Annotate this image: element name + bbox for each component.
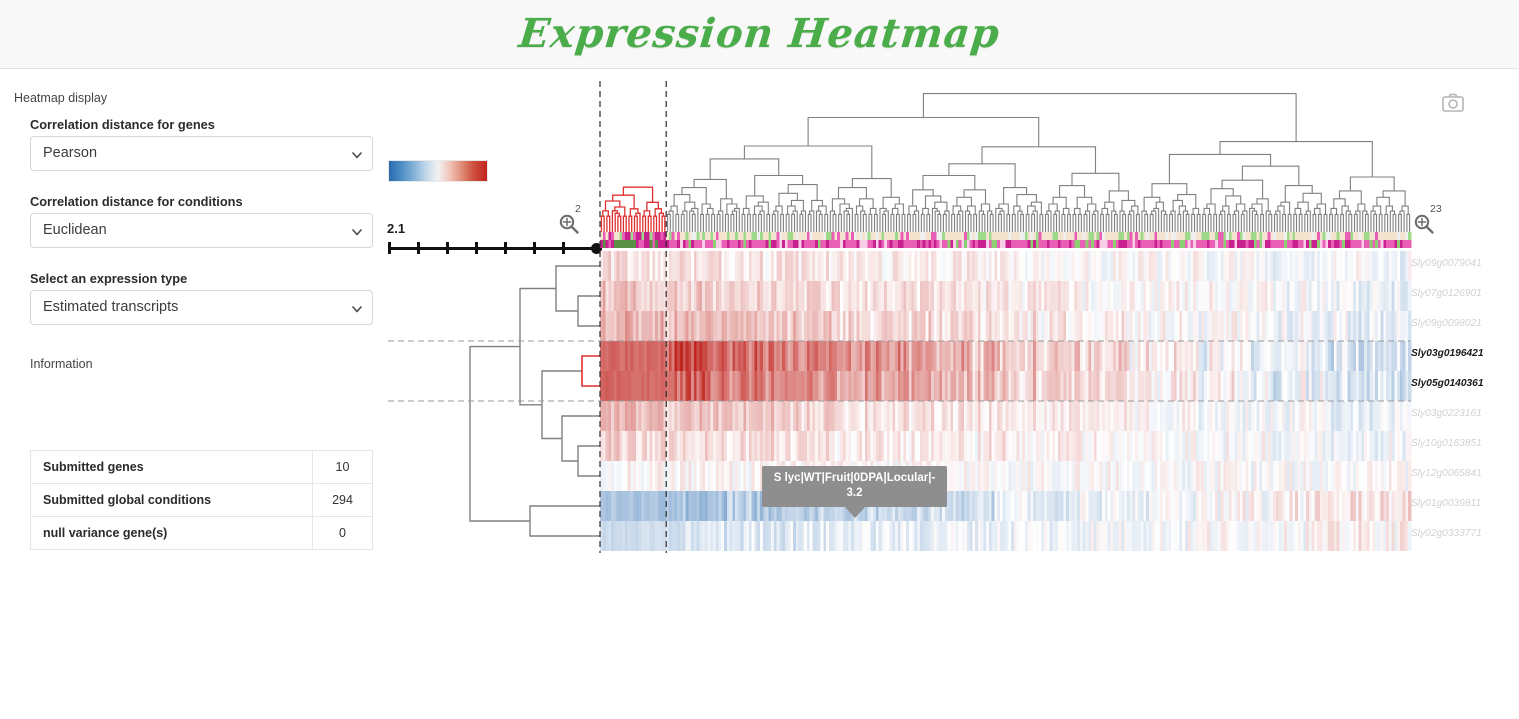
sidebar: Heatmap display Correlation distance for… — [0, 69, 388, 719]
label-correlation-distance-genes: Correlation distance for genes — [30, 117, 215, 132]
select-correlation-distance-conditions-value[interactable]: Euclidean — [30, 213, 373, 248]
table-row: Submitted global conditions 294 — [31, 484, 373, 517]
heatmap-plot-area[interactable]: 2.1 2 23 — [386, 69, 1519, 719]
label-expression-type: Select an expression type — [30, 271, 187, 286]
tooltip-line-1: S lyc|WT|Fruit|0DPA|Locular|- — [762, 471, 947, 486]
info-key: null variance gene(s) — [31, 517, 313, 550]
gene-label[interactable]: Sly03g0223161 — [1411, 408, 1482, 419]
gene-label[interactable]: Sly07g0126901 — [1411, 288, 1482, 299]
row-dendrogram-selected — [582, 356, 600, 386]
gene-label[interactable]: Sly01g0039811 — [1411, 498, 1481, 509]
gene-label[interactable]: Sly12g0065841 — [1411, 468, 1482, 479]
info-value: 0 — [313, 517, 373, 550]
column-dendrogram — [668, 94, 1410, 232]
select-expression-type-value[interactable]: Estimated transcripts — [30, 290, 373, 325]
gene-label-list: Sly09g0079041Sly07g0126901Sly09g0098021S… — [1411, 251, 1519, 551]
info-key: Submitted global conditions — [31, 484, 313, 517]
column-annotation-bars — [600, 232, 1411, 248]
tooltip-line-2: 3.2 — [762, 486, 947, 501]
table-row: null variance gene(s) 0 — [31, 517, 373, 550]
label-correlation-distance-conditions: Correlation distance for conditions — [30, 194, 243, 209]
app-header: Expression Heatmap — [0, 0, 1519, 69]
select-expression-type[interactable]: Estimated transcripts — [30, 290, 373, 325]
select-correlation-distance-conditions[interactable]: Euclidean — [30, 213, 373, 248]
info-key: Submitted genes — [31, 451, 313, 484]
table-row: Submitted genes 10 — [31, 451, 373, 484]
page-title: Expression Heatmap — [0, 10, 1519, 57]
tooltip-arrow — [845, 507, 865, 518]
heatmap-figure[interactable] — [386, 69, 1519, 719]
information-section-label: Information — [30, 357, 93, 371]
gene-label[interactable]: Sly03g0196421 — [1411, 348, 1484, 359]
gene-label[interactable]: Sly10g0163851 — [1411, 438, 1482, 449]
gene-label[interactable]: Sly02g0333771 — [1411, 528, 1482, 539]
info-value: 10 — [313, 451, 373, 484]
cell-tooltip: S lyc|WT|Fruit|0DPA|Locular|- 3.2 — [762, 466, 947, 507]
information-table: Submitted genes 10 Submitted global cond… — [30, 450, 373, 550]
expression-heatmap-app: Expression Heatmap Heatmap display Corre… — [0, 0, 1519, 719]
gene-label[interactable]: Sly09g0079041 — [1411, 258, 1482, 269]
info-value: 294 — [313, 484, 373, 517]
column-dendrogram-selected — [601, 187, 664, 232]
gene-label[interactable]: Sly09g0098021 — [1411, 318, 1482, 329]
select-correlation-distance-genes[interactable]: Pearson — [30, 136, 373, 171]
gene-label[interactable]: Sly05g0140361 — [1411, 378, 1484, 389]
select-correlation-distance-genes-value[interactable]: Pearson — [30, 136, 373, 171]
heatmap-display-section-label: Heatmap display — [14, 91, 107, 105]
